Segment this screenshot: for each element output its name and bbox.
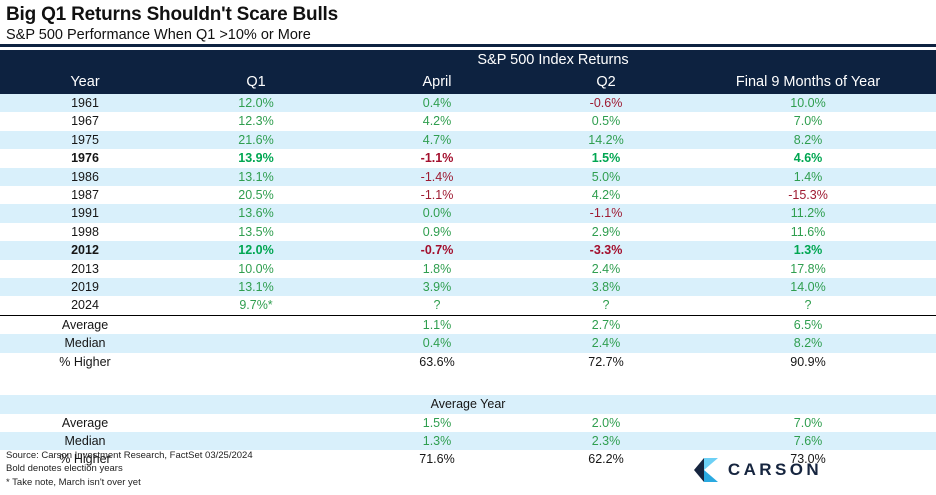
cell-final9: -15.3% [680, 186, 936, 204]
summary-row: Average1.5%2.0%7.0% [0, 414, 936, 432]
cell-q2: 3.8% [532, 278, 680, 296]
cell-final9: ? [680, 296, 936, 315]
cell-april: 0.4% [342, 94, 532, 112]
summary-label: Median [0, 334, 170, 352]
table-row: 201913.1%3.9%3.8%14.0% [0, 278, 936, 296]
cell-q2: ? [532, 296, 680, 315]
cell-year: 1998 [0, 223, 170, 241]
footer: Source: Carson Investment Research, Fact… [6, 449, 930, 490]
title-divider [0, 44, 936, 47]
cell-q1: 13.1% [170, 168, 342, 186]
table-row: 199813.5%0.9%2.9%11.6% [0, 223, 936, 241]
cell-q1: 12.0% [170, 241, 342, 259]
cell-q2: 1.5% [532, 149, 680, 167]
summary-row: % Higher63.6%72.7%90.9% [0, 353, 936, 371]
cell-q2: 14.2% [532, 131, 680, 149]
cell-april: -1.4% [342, 168, 532, 186]
cell-year: 1987 [0, 186, 170, 204]
cell-april: -0.7% [342, 241, 532, 259]
cell-final9: 11.2% [680, 204, 936, 222]
cell-year: 2024 [0, 296, 170, 315]
cell-year: 1976 [0, 149, 170, 167]
summary-row: Average1.1%2.7%6.5% [0, 315, 936, 334]
cell-final9: 17.8% [680, 260, 936, 278]
cell-q2: -1.1% [532, 204, 680, 222]
cell-q1 [170, 414, 342, 432]
cell-final9: 8.2% [680, 131, 936, 149]
page-subtitle: S&P 500 Performance When Q1 >10% or More [6, 26, 936, 44]
cell-q1 [170, 315, 342, 334]
section-label-average-year: Average Year [0, 395, 936, 413]
table-row: 198720.5%-1.1%4.2%-15.3% [0, 186, 936, 204]
table-group-header-row: S&P 500 Index Returns [0, 50, 936, 70]
cell-q1: 13.9% [170, 149, 342, 167]
cell-year: 1961 [0, 94, 170, 112]
cell-final9: 8.2% [680, 334, 936, 352]
source-line: Source: Carson Investment Research, Fact… [6, 449, 253, 463]
page-title: Big Q1 Returns Shouldn't Scare Bulls [6, 4, 936, 25]
cell-year: 1991 [0, 204, 170, 222]
table-group-header: S&P 500 Index Returns [170, 50, 936, 70]
cell-april: 4.2% [342, 112, 532, 130]
cell-q1: 21.6% [170, 131, 342, 149]
table-row: 196712.3%4.2%0.5%7.0% [0, 112, 936, 130]
cell-q2: 5.0% [532, 168, 680, 186]
column-header-april[interactable]: April [342, 70, 532, 94]
carson-logo-text: CARSON [728, 460, 822, 480]
cell-q2: 2.4% [532, 334, 680, 352]
cell-april: 3.9% [342, 278, 532, 296]
table-row: 201212.0%-0.7%-3.3%1.3% [0, 241, 936, 259]
bold-note-line: Bold denotes election years [6, 462, 253, 476]
cell-q2: 4.2% [532, 186, 680, 204]
returns-table: S&P 500 Index ReturnsYearQ1AprilQ2Final … [0, 50, 936, 469]
cell-final9: 7.0% [680, 112, 936, 130]
cell-q1 [170, 334, 342, 352]
cell-final9: 1.4% [680, 168, 936, 186]
column-header-year[interactable]: Year [0, 70, 170, 94]
cell-q2: 2.4% [532, 260, 680, 278]
source-notes: Source: Carson Investment Research, Fact… [6, 449, 253, 490]
cell-final9: 90.9% [680, 353, 936, 371]
cell-april: -1.1% [342, 149, 532, 167]
table-row: 196112.0%0.4%-0.6%10.0% [0, 94, 936, 112]
cell-q1: 12.0% [170, 94, 342, 112]
cell-q1: 13.1% [170, 278, 342, 296]
cell-april: 0.9% [342, 223, 532, 241]
cell-april: 0.4% [342, 334, 532, 352]
cell-q2: 2.0% [532, 414, 680, 432]
cell-year: 2012 [0, 241, 170, 259]
cell-final9: 4.6% [680, 149, 936, 167]
cell-april: 0.0% [342, 204, 532, 222]
cell-q2: 0.5% [532, 112, 680, 130]
cell-year: 1986 [0, 168, 170, 186]
cell-final9: 6.5% [680, 315, 936, 334]
cell-final9: 11.6% [680, 223, 936, 241]
table-spacer-cell [0, 371, 936, 395]
chart-title-block: Big Q1 Returns Shouldn't Scare Bulls S&P… [0, 0, 936, 44]
table-header-row: YearQ1AprilQ2Final 9 Months of Year [0, 70, 936, 94]
section-label-row: Average Year [0, 395, 936, 413]
cell-april: ? [342, 296, 532, 315]
cell-april: 1.8% [342, 260, 532, 278]
asterisk-note-line: * Take note, March isn't over yet [6, 476, 253, 490]
cell-q1: 13.6% [170, 204, 342, 222]
group-header-spacer [0, 50, 170, 70]
cell-final9: 1.3% [680, 241, 936, 259]
cell-q2: -3.3% [532, 241, 680, 259]
cell-final9: 14.0% [680, 278, 936, 296]
column-header-final-9-months-of-year[interactable]: Final 9 Months of Year [680, 70, 936, 94]
cell-year: 1975 [0, 131, 170, 149]
cell-final9: 10.0% [680, 94, 936, 112]
cell-q1: 10.0% [170, 260, 342, 278]
table-row: 197521.6%4.7%14.2%8.2% [0, 131, 936, 149]
cell-april: 4.7% [342, 131, 532, 149]
table-row: 198613.1%-1.4%5.0%1.4% [0, 168, 936, 186]
carson-logo: CARSON [693, 457, 822, 483]
table-row: 199113.6%0.0%-1.1%11.2% [0, 204, 936, 222]
cell-q1 [170, 353, 342, 371]
cell-april: 1.5% [342, 414, 532, 432]
summary-label: Average [0, 315, 170, 334]
cell-year: 1967 [0, 112, 170, 130]
cell-april: -1.1% [342, 186, 532, 204]
cell-q1: 9.7%* [170, 296, 342, 315]
cell-q2: -0.6% [532, 94, 680, 112]
table-row: 201310.0%1.8%2.4%17.8% [0, 260, 936, 278]
cell-q2: 72.7% [532, 353, 680, 371]
cell-q2: 2.9% [532, 223, 680, 241]
cell-april: 1.1% [342, 315, 532, 334]
carson-chevron-icon [693, 457, 719, 483]
summary-label: % Higher [0, 353, 170, 371]
column-header-q2[interactable]: Q2 [532, 70, 680, 94]
cell-year: 2019 [0, 278, 170, 296]
column-header-q1[interactable]: Q1 [170, 70, 342, 94]
table-spacer-row [0, 371, 936, 395]
cell-q1: 13.5% [170, 223, 342, 241]
summary-label: Average [0, 414, 170, 432]
cell-q2: 2.7% [532, 315, 680, 334]
cell-q1: 12.3% [170, 112, 342, 130]
cell-april: 63.6% [342, 353, 532, 371]
cell-year: 2013 [0, 260, 170, 278]
table-row: 197613.9%-1.1%1.5%4.6% [0, 149, 936, 167]
cell-final9: 7.0% [680, 414, 936, 432]
table-row: 20249.7%*??? [0, 296, 936, 315]
summary-row: Median0.4%2.4%8.2% [0, 334, 936, 352]
cell-q1: 20.5% [170, 186, 342, 204]
returns-table-body: S&P 500 Index ReturnsYearQ1AprilQ2Final … [0, 50, 936, 469]
